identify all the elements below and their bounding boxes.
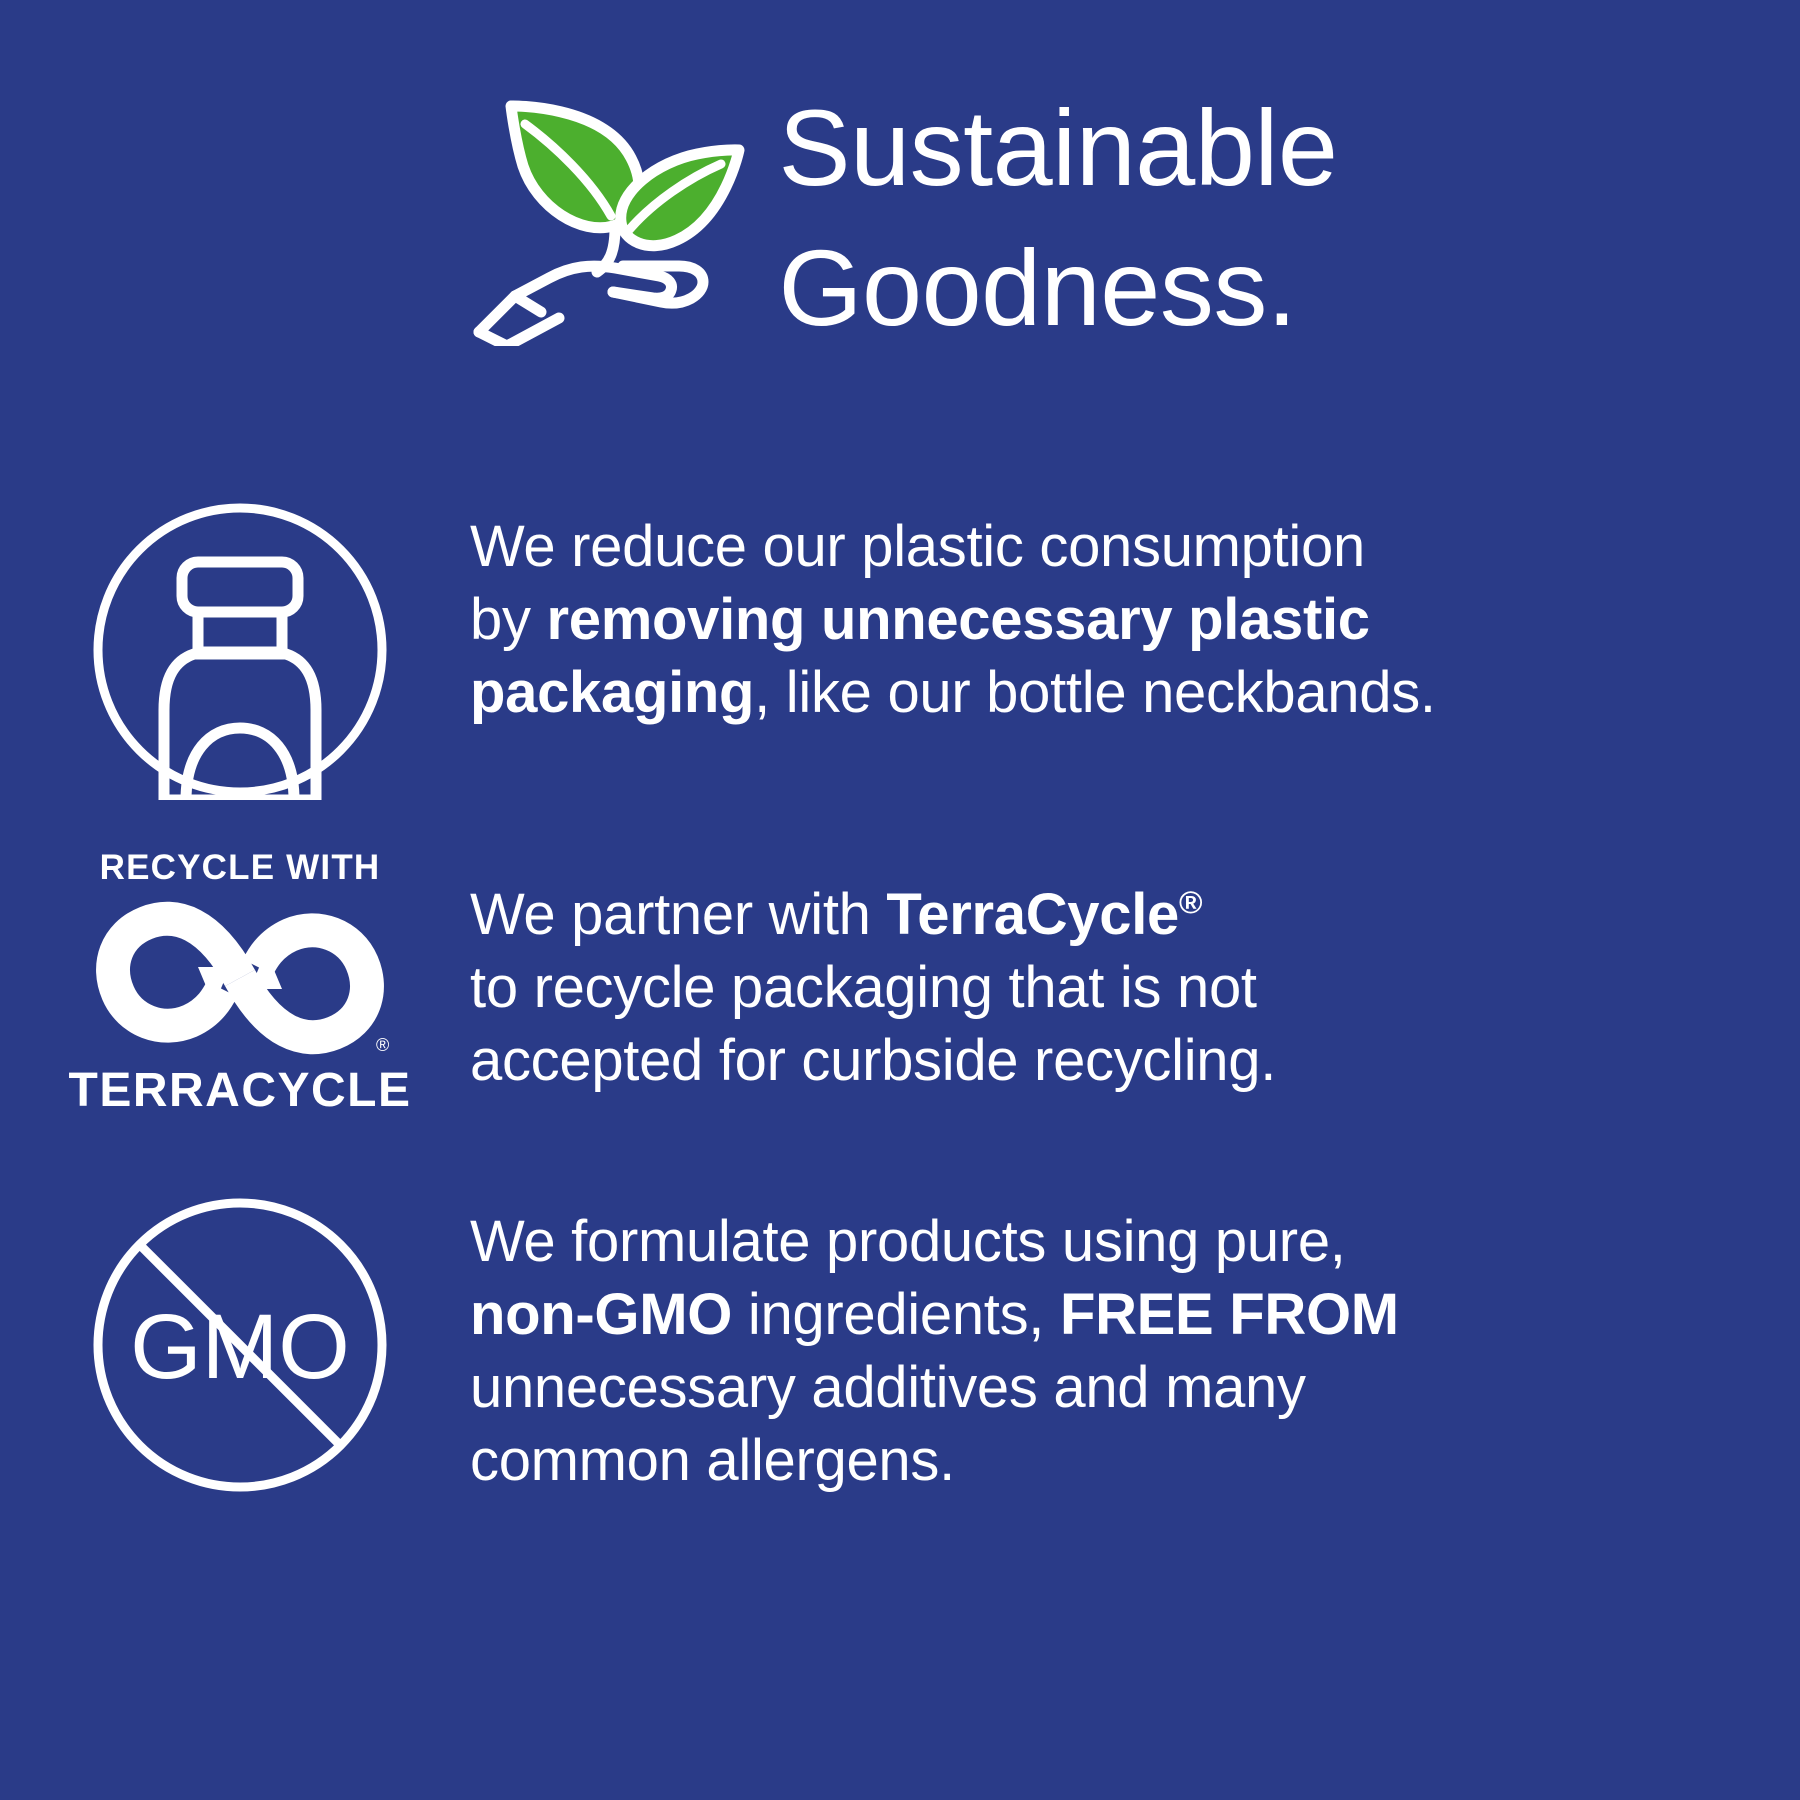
text-run: ingredients, <box>732 1282 1060 1347</box>
terracycle-top-label: RECYCLE WITH <box>100 850 381 885</box>
text-run-bold: ® <box>1179 885 1202 921</box>
benefit-row-terracycle: RECYCLE WITH ® <box>0 850 1800 1195</box>
benefits-list: We reduce our plastic consumption by rem… <box>0 500 1800 1535</box>
text-run-bold: non-GMO <box>470 1282 732 1347</box>
no-gmo-icon: GMO <box>90 1195 390 1495</box>
terracycle-logo: RECYCLE WITH ® <box>90 850 390 1115</box>
text-line: non-GMO ingredients, FREE FROM <box>470 1278 1760 1351</box>
registered-mark: ® <box>376 1035 389 1055</box>
text-run: to recycle packaging that is not <box>470 955 1257 1020</box>
text-run-bold: FREE FROM <box>1060 1282 1399 1347</box>
text-line: to recycle packaging that is not <box>470 951 1760 1024</box>
page-title-line-2: Goodness. <box>779 218 1338 358</box>
text-run: We partner with <box>470 882 886 947</box>
text-run: We reduce our plastic consumption <box>470 514 1365 579</box>
text-line: unnecessary additives and many <box>470 1351 1760 1424</box>
text-line: accepted for curbside recycling. <box>470 1024 1760 1097</box>
sustainable-goodness-infographic: Sustainable Goodness. <box>0 0 1800 1800</box>
bottle-in-circle-icon <box>90 500 390 800</box>
benefit-row-gmo-icon-cell: GMO <box>0 1195 470 1495</box>
text-run: , like our bottle neckbands. <box>754 660 1436 725</box>
text-run: unnecessary additives and many <box>470 1355 1306 1420</box>
text-run: We formulate products using pure, <box>470 1209 1346 1274</box>
text-run: by <box>470 587 546 652</box>
text-line: We formulate products using pure, <box>470 1205 1760 1278</box>
sprout-in-hand-icon <box>463 88 753 346</box>
page-title: Sustainable Goodness. <box>779 78 1338 359</box>
text-line: We partner with TerraCycle® <box>470 878 1760 951</box>
benefit-row-terracycle-icon-cell: RECYCLE WITH ® <box>0 850 470 1115</box>
text-run-bold: packaging <box>470 660 754 725</box>
text-line: common allergens. <box>470 1424 1760 1497</box>
page-title-line-1: Sustainable <box>779 78 1338 218</box>
gmo-label: GMO <box>130 1296 350 1398</box>
benefit-row-plastic-icon-cell <box>0 500 470 800</box>
benefit-row-gmo-text: We formulate products using pure, non-GM… <box>470 1195 1800 1497</box>
header: Sustainable Goodness. <box>0 78 1800 359</box>
text-line: by removing unnecessary plastic <box>470 583 1760 656</box>
benefit-row-plastic: We reduce our plastic consumption by rem… <box>0 500 1800 850</box>
benefit-row-gmo: GMO We formulate products using pure, no… <box>0 1195 1800 1535</box>
infinity-loop-arrows-icon: ® <box>90 893 390 1063</box>
text-run-bold: removing unnecessary plastic <box>546 587 1369 652</box>
text-line: We reduce our plastic consumption <box>470 510 1760 583</box>
text-line: packaging, like our bottle neckbands. <box>470 656 1760 729</box>
benefit-row-plastic-text: We reduce our plastic consumption by rem… <box>470 500 1800 729</box>
terracycle-wordmark: TERRACYCLE <box>69 1067 412 1115</box>
text-run: common allergens. <box>470 1428 955 1493</box>
benefit-row-terracycle-text: We partner with TerraCycle® to recycle p… <box>470 850 1800 1097</box>
text-run: accepted for curbside recycling. <box>470 1028 1276 1093</box>
text-run-bold: TerraCycle <box>886 882 1179 947</box>
